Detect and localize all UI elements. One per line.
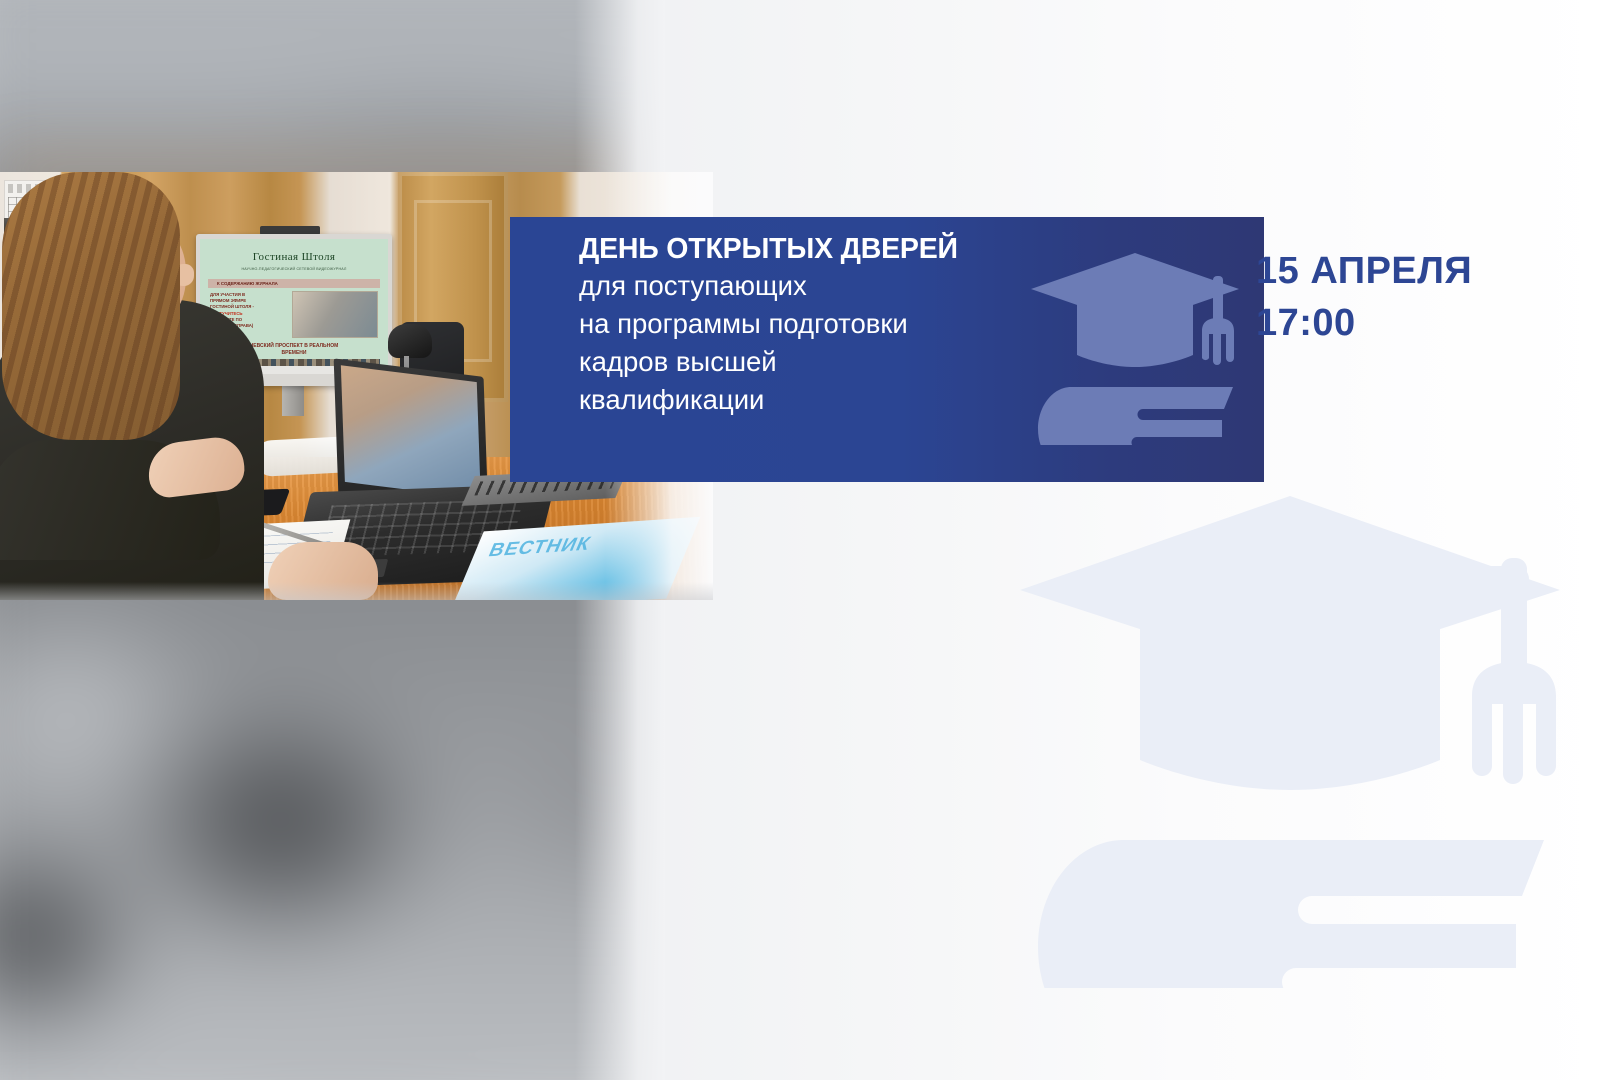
screen-menu-bar: К СОДЕРЖАНИЮ ЖУРНАЛА xyxy=(208,279,380,288)
photo-microphone-head xyxy=(388,324,432,358)
photo-bottom-fade xyxy=(0,582,713,600)
announcement-subtitle-line-1: для поступающих xyxy=(579,267,1049,305)
screen-site-title: Гостиная Штоля xyxy=(200,251,388,263)
poster-canvas: Гостиная Штоля НАУЧНО-ПЕДАГОГИЧЕСКИЙ СЕТ… xyxy=(0,0,1608,1080)
announcement-banner: ДЕНЬ ОТКРЫТЫХ ДВЕРЕЙ для поступающих на … xyxy=(510,217,1264,482)
event-time: 17:00 xyxy=(1256,297,1472,349)
graduation-cap-and-book-icon xyxy=(1028,245,1243,445)
announcement-subtitle-line-3: кадров высшей xyxy=(579,343,1049,381)
screen-thumbnail-image xyxy=(292,291,378,338)
announcement-subtitle-line-4: квалификации xyxy=(579,381,1049,419)
event-date: 15 АПРЕЛЯ xyxy=(1256,245,1472,297)
announcement-text-block: ДЕНЬ ОТКРЫТЫХ ДВЕРЕЙ для поступающих на … xyxy=(579,231,1049,419)
photo-person-hair xyxy=(2,172,180,440)
photo-monitor-stand xyxy=(282,386,304,416)
announcement-subtitle-line-2: на программы подготовки xyxy=(579,305,1049,343)
photo-booklet-label: ВЕСТНИК xyxy=(485,534,594,563)
event-datetime: 15 АПРЕЛЯ 17:00 xyxy=(1256,245,1472,349)
announcement-title: ДЕНЬ ОТКРЫТЫХ ДВЕРЕЙ xyxy=(579,231,1049,267)
screen-site-subtitle: НАУЧНО-ПЕДАГОГИЧЕСКИЙ СЕТЕВОЙ ВИДЕОЖУРНА… xyxy=(200,267,388,271)
screen-menu-bar-label: К СОДЕРЖАНИЮ ЖУРНАЛА xyxy=(208,281,278,286)
right-light-panel xyxy=(665,0,1608,1080)
